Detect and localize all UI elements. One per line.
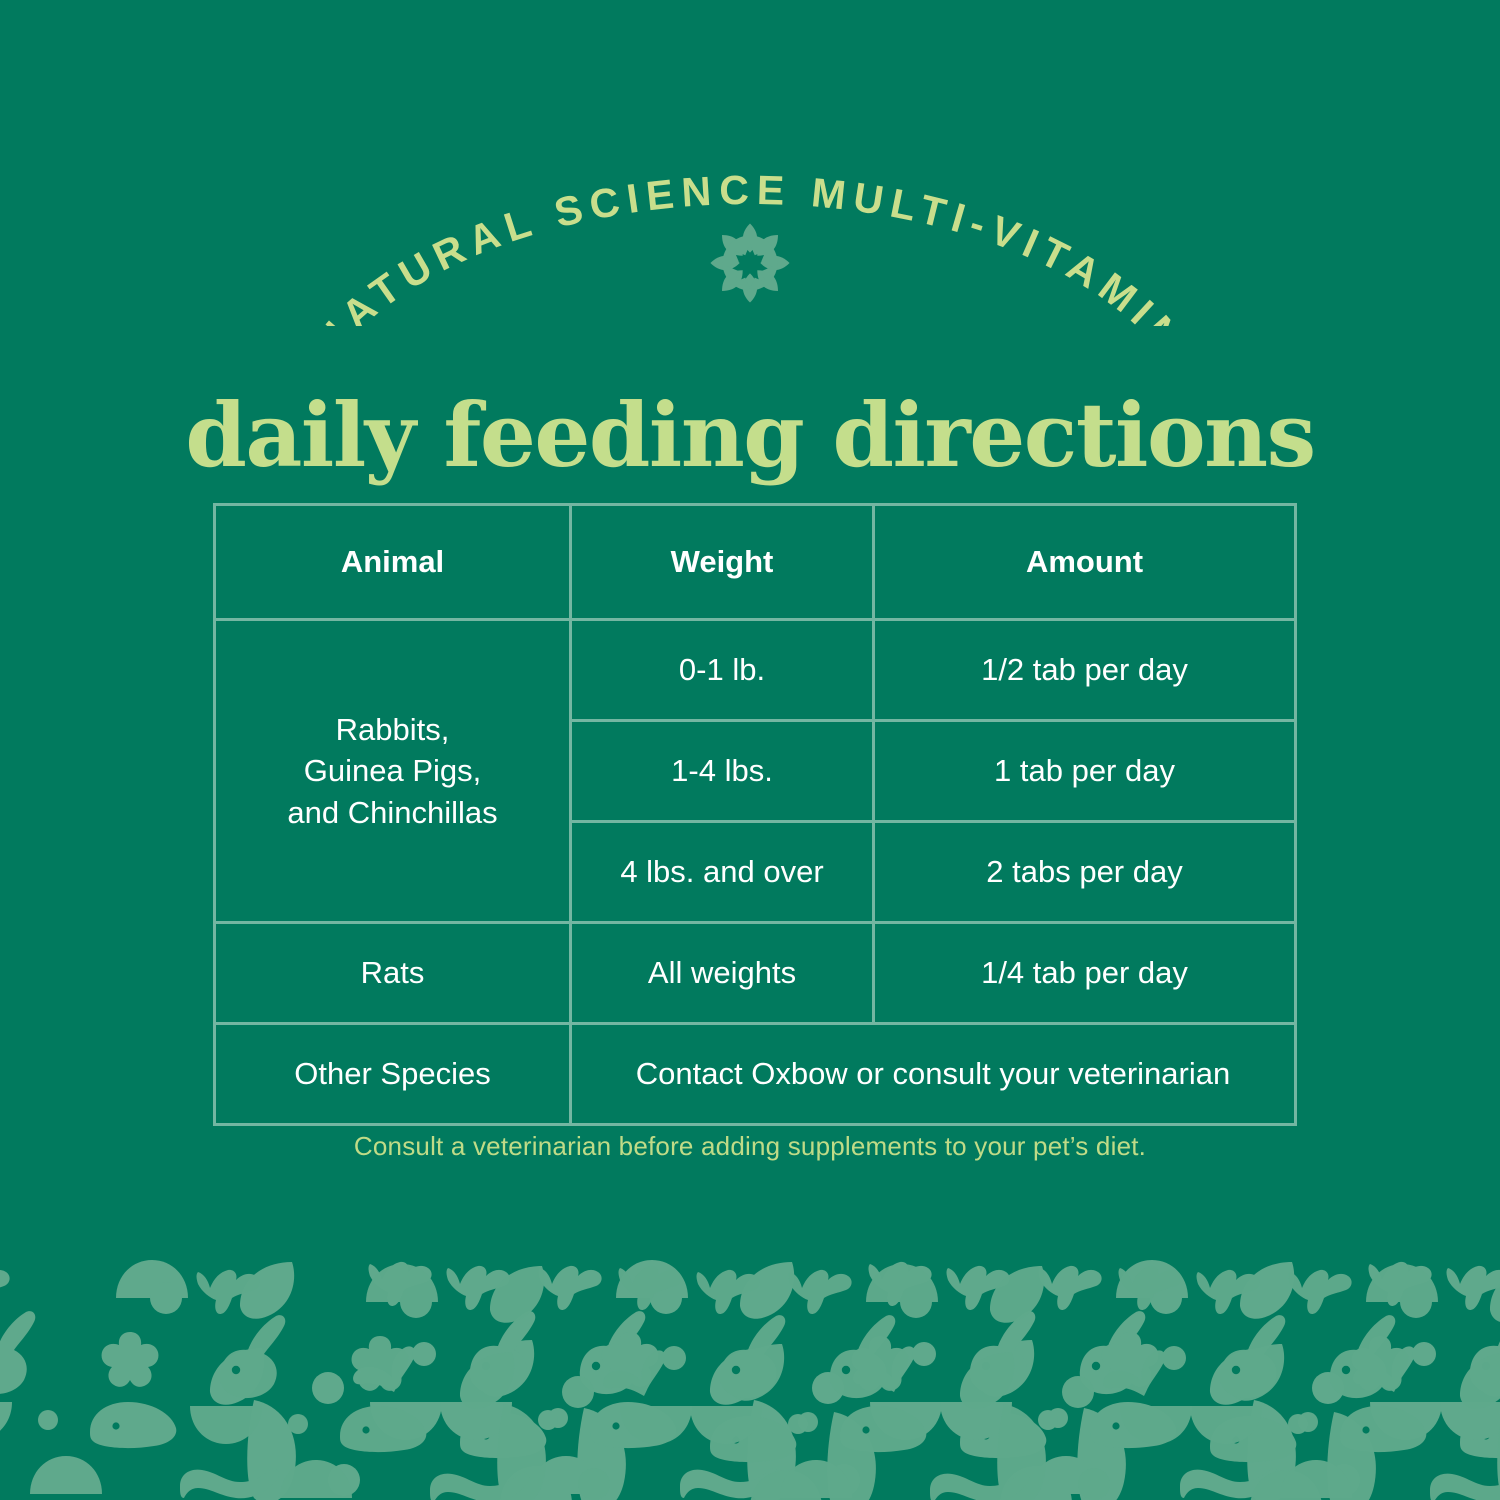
table-row: Other Species Contact Oxbow or consult y… — [215, 1024, 1296, 1125]
table-head: Animal Weight Amount — [215, 505, 1296, 620]
cell-weight: 1-4 lbs. — [571, 721, 874, 822]
cell-amount: 1/2 tab per day — [874, 620, 1296, 721]
animal-line: Rabbits, — [216, 709, 569, 751]
column-header-animal: Animal — [215, 505, 571, 620]
cell-animal-group-1: Rabbits, Guinea Pigs, and Chinchillas — [215, 620, 571, 923]
cell-amount: 1 tab per day — [874, 721, 1296, 822]
pattern-tiles — [0, 1260, 1500, 1500]
decorative-pattern-band — [0, 1258, 1500, 1500]
cell-amount: 1/4 tab per day — [874, 923, 1296, 1024]
column-header-amount: Amount — [874, 505, 1296, 620]
cell-amount: 2 tabs per day — [874, 822, 1296, 923]
daily-feeding-directions-table: Animal Weight Amount Rabbits, Guinea Pig… — [213, 503, 1297, 1126]
page-title: daily feeding directions — [0, 389, 1500, 481]
animal-line: and Chinchillas — [216, 792, 569, 834]
footnote-disclaimer: Consult a veterinarian before adding sup… — [0, 1131, 1500, 1162]
cell-weight: 4 lbs. and over — [571, 822, 874, 923]
rosette-flower-icon — [707, 220, 793, 306]
column-header-weight: Weight — [571, 505, 874, 620]
cell-other-species-note: Contact Oxbow or consult your veterinari… — [571, 1024, 1296, 1125]
pattern-svg — [0, 1258, 1500, 1500]
cell-weight: 0-1 lb. — [571, 620, 874, 721]
table-header-row: Animal Weight Amount — [215, 505, 1296, 620]
cell-weight: All weights — [571, 923, 874, 1024]
animal-line: Guinea Pigs, — [216, 750, 569, 792]
rosette-petals — [710, 223, 789, 302]
table-body: Rabbits, Guinea Pigs, and Chinchillas 0-… — [215, 620, 1296, 1125]
cell-animal-group-3: Other Species — [215, 1024, 571, 1125]
table-row: Rabbits, Guinea Pigs, and Chinchillas 0-… — [215, 620, 1296, 721]
rosette-svg — [707, 220, 793, 306]
cell-animal-group-2: Rats — [215, 923, 571, 1024]
table-row: Rats All weights 1/4 tab per day — [215, 923, 1296, 1024]
